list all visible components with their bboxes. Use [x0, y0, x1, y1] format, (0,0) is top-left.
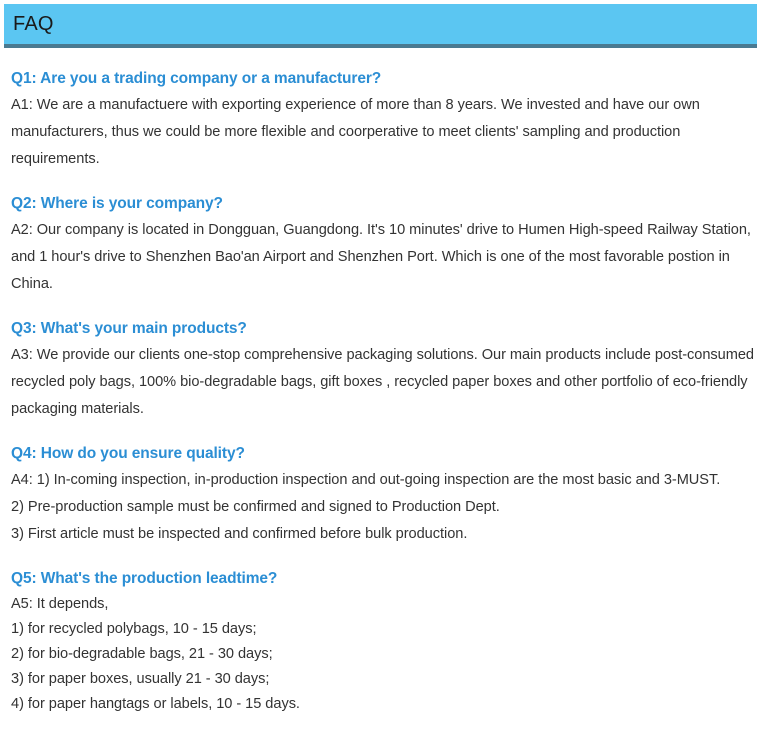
faq-answer-line: A5: It depends,: [11, 592, 755, 617]
faq-item-2: Q2: Where is your company? A2: Our compa…: [11, 193, 755, 298]
faq-answer-1: A1: We are a manufactuere with exporting…: [11, 92, 755, 173]
faq-content: Q1: Are you a trading company or a manuf…: [11, 68, 755, 717]
faq-question-1: Q1: Are you a trading company or a manuf…: [11, 68, 755, 89]
faq-question-5: Q5: What's the production leadtime?: [11, 568, 755, 589]
faq-answer-line: 2) Pre-production sample must be confirm…: [11, 494, 755, 521]
page-title: FAQ: [13, 11, 54, 37]
faq-item-5: Q5: What's the production leadtime? A5: …: [11, 568, 755, 717]
faq-answer-line: 4) for paper hangtags or labels, 10 - 15…: [11, 692, 755, 717]
faq-answer-2: A2: Our company is located in Dongguan, …: [11, 217, 755, 298]
faq-answer-5: A5: It depends, 1) for recycled polybags…: [11, 592, 755, 717]
faq-answer-line: A3: We provide our clients one-stop comp…: [11, 342, 755, 423]
faq-answer-line: 3) for paper boxes, usually 21 - 30 days…: [11, 667, 755, 692]
faq-banner: FAQ: [4, 4, 757, 48]
faq-answer-line: 2) for bio-degradable bags, 21 - 30 days…: [11, 642, 755, 667]
faq-answer-line: A1: We are a manufactuere with exporting…: [11, 92, 755, 173]
faq-page: FAQ Q1: Are you a trading company or a m…: [0, 0, 765, 748]
faq-question-4: Q4: How do you ensure quality?: [11, 443, 755, 464]
faq-question-2: Q2: Where is your company?: [11, 193, 755, 214]
faq-answer-3: A3: We provide our clients one-stop comp…: [11, 342, 755, 423]
faq-item-4: Q4: How do you ensure quality? A4: 1) In…: [11, 443, 755, 548]
faq-item-3: Q3: What's your main products? A3: We pr…: [11, 318, 755, 423]
faq-answer-line: 1) for recycled polybags, 10 - 15 days;: [11, 617, 755, 642]
faq-answer-4: A4: 1) In-coming inspection, in-producti…: [11, 467, 755, 548]
faq-item-1: Q1: Are you a trading company or a manuf…: [11, 68, 755, 173]
faq-question-3: Q3: What's your main products?: [11, 318, 755, 339]
faq-answer-line: A2: Our company is located in Dongguan, …: [11, 217, 755, 298]
faq-answer-line: 3) First article must be inspected and c…: [11, 521, 755, 548]
faq-answer-line: A4: 1) In-coming inspection, in-producti…: [11, 467, 755, 494]
